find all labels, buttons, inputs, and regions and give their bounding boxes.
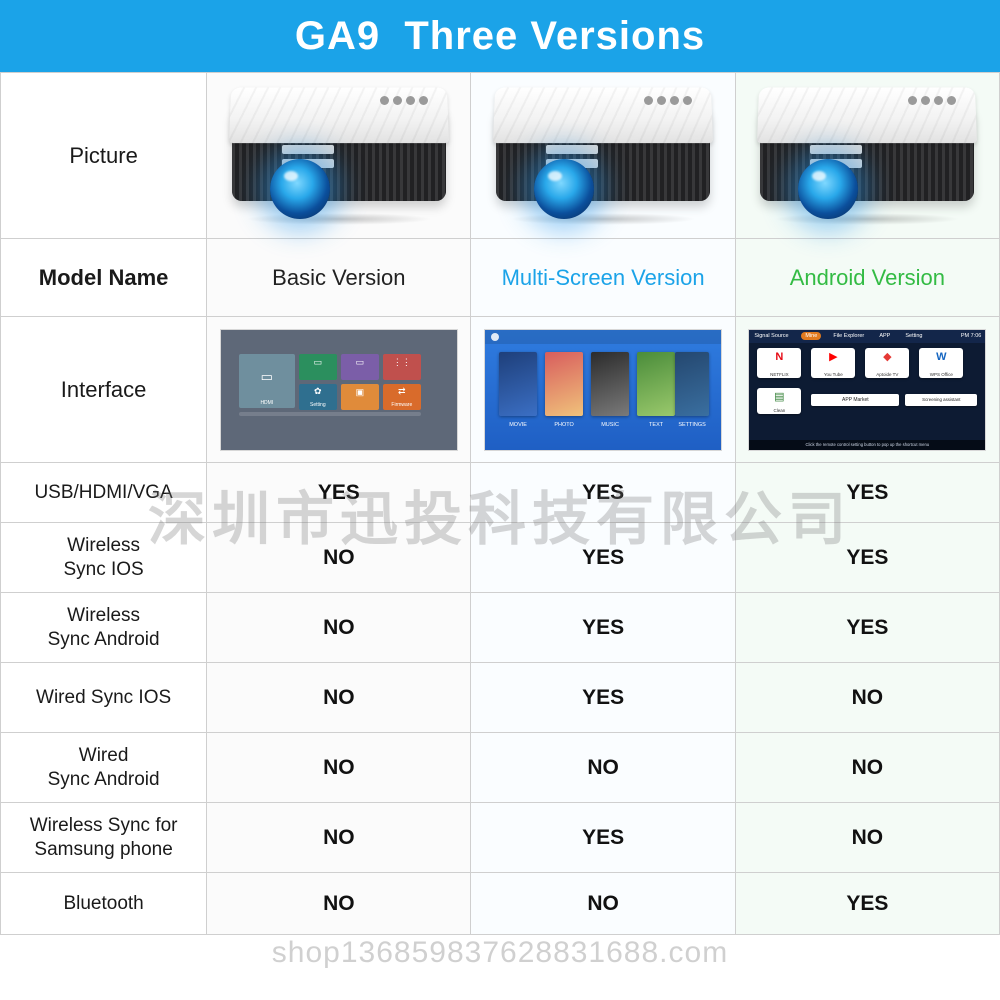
ui-tile-firmware: ⇄ Firmware <box>383 384 421 410</box>
app-label: You Tube <box>811 372 855 377</box>
table-row-wireless-sync-ios: Wireless Sync IOS NO YES YES <box>1 523 1000 593</box>
value-basic: NO <box>207 663 471 733</box>
value-android: NO <box>735 663 999 733</box>
projector-shadow <box>510 213 696 225</box>
row-label-wireless-sync-ios: Wireless Sync IOS <box>1 523 207 593</box>
wps-icon: W <box>919 352 963 363</box>
table-row-picture: Picture <box>1 73 1000 239</box>
user-icon <box>491 333 499 341</box>
ui-card-label-settings: SETTINGS <box>673 422 711 428</box>
ui-tile-glyph: ✿ <box>299 387 337 396</box>
ui-tile-label: Setting <box>310 402 326 408</box>
ui-tile-hdmi-main: ▭ HDMI <box>239 354 295 408</box>
ui-card-label-photo: PHOTO <box>545 422 583 428</box>
value-multi: NO <box>471 733 735 803</box>
android-app-screening-assistant: Screening assistant <box>905 394 977 406</box>
projector-shadow <box>246 213 432 225</box>
table-row-bluetooth: Bluetooth NO NO YES <box>1 873 1000 935</box>
row-label-wired-sync-ios: Wired Sync IOS <box>1 663 207 733</box>
android-app-youtube: ▶ You Tube <box>811 348 855 378</box>
projector-illustration <box>224 81 454 231</box>
android-app-netflix: N NETFLIX <box>757 348 801 378</box>
value-multi: YES <box>471 593 735 663</box>
projector-slot-upper <box>810 145 862 154</box>
screening-assistant-label: Screening assistant <box>922 397 960 402</box>
statusbar-mine: Mine <box>801 332 821 340</box>
table-row-wireless-sync-samsung: Wireless Sync for Samsung phone NO YES N… <box>1 803 1000 873</box>
android-app-market: APP Market <box>811 394 899 406</box>
value-android: YES <box>735 523 999 593</box>
row-label-picture: Picture <box>1 73 207 239</box>
value-basic: NO <box>207 733 471 803</box>
android-app-wps: W WPS Office <box>919 348 963 378</box>
table-row-wired-sync-android: Wired Sync Android NO NO NO <box>1 733 1000 803</box>
value-basic: YES <box>207 463 471 523</box>
value-basic: NO <box>207 593 471 663</box>
value-basic: NO <box>207 873 471 935</box>
ui-tile-apps: ⋮⋮ <box>383 354 421 380</box>
value-basic: NO <box>207 523 471 593</box>
projector-illustration <box>488 81 718 231</box>
value-multi: YES <box>471 523 735 593</box>
row-label-wired-sync-android: Wired Sync Android <box>1 733 207 803</box>
ui-tile-label: HDMI <box>260 400 273 406</box>
ui-card-label-music: MUSIC <box>591 422 629 428</box>
projector-lens <box>270 159 330 219</box>
aptoide-icon: ◆ <box>865 352 909 363</box>
table-row-wireless-sync-android: Wireless Sync Android NO YES YES <box>1 593 1000 663</box>
ui-card-music <box>591 352 629 416</box>
row-label-usb-hdmi-vga: USB/HDMI/VGA <box>1 463 207 523</box>
comparison-table: Picture <box>0 72 1000 935</box>
banner-title: GA9 Three Versions <box>295 14 705 59</box>
statusbar-setting: Setting <box>905 333 922 339</box>
value-android: NO <box>735 803 999 873</box>
ui-tile-hdmi2: ▭ <box>299 354 337 380</box>
row-label-bluetooth: Bluetooth <box>1 873 207 935</box>
clean-icon: ▤ <box>757 392 801 403</box>
projector-shadow <box>774 213 960 225</box>
ui-tile-label: Firmware <box>391 402 412 408</box>
value-android: NO <box>735 733 999 803</box>
row-label-wireless-sync-samsung: Wireless Sync for Samsung phone <box>1 803 207 873</box>
ui-tile-glyph: ▭ <box>341 358 379 367</box>
interface-android: Signal Source Mine File Explorer APP Set… <box>735 317 999 463</box>
projector-buttons <box>380 93 438 109</box>
value-multi: NO <box>471 873 735 935</box>
model-name-basic: Basic Version <box>207 239 471 317</box>
page-root: GA9 Three Versions Picture <box>0 0 1000 1000</box>
ui-tile-glyph: ▭ <box>299 358 337 367</box>
model-name-multi: Multi-Screen Version <box>471 239 735 317</box>
table-row-usb-hdmi-vga: USB/HDMI/VGA YES YES YES <box>1 463 1000 523</box>
projector-slot-upper <box>282 145 334 154</box>
ui-card-settings <box>675 352 709 416</box>
projector-buttons <box>908 93 966 109</box>
android-ui-screenshot: Signal Source Mine File Explorer APP Set… <box>748 329 986 451</box>
ui-basic-footer <box>239 412 421 416</box>
value-android: YES <box>735 463 999 523</box>
ui-card-text <box>637 352 675 416</box>
statusbar-file-explorer: File Explorer <box>833 333 864 339</box>
statusbar-signal-source: Signal Source <box>754 333 788 339</box>
ui-card-label-movie: MOVIE <box>499 422 537 428</box>
android-app-clean: ▤ Clean <box>757 388 801 414</box>
row-label-wireless-sync-android: Wireless Sync Android <box>1 593 207 663</box>
projector-lens <box>534 159 594 219</box>
app-label: Aptoide TV <box>865 372 909 377</box>
projector-lens <box>798 159 858 219</box>
interface-basic: ▭ HDMI ▭ ▭ ⋮⋮ ✿ <box>207 317 471 463</box>
statusbar-app: APP <box>879 333 890 339</box>
multi-screen-ui-screenshot: MOVIE PHOTO MUSIC TEXT SETTINGS <box>484 329 722 451</box>
picture-basic <box>207 73 471 239</box>
ui-card-movie <box>499 352 537 416</box>
basic-ui-screenshot: ▭ HDMI ▭ ▭ ⋮⋮ ✿ <box>220 329 458 451</box>
youtube-icon: ▶ <box>811 352 855 363</box>
projector-slot-upper <box>546 145 598 154</box>
ui-tile-glyph: ▭ <box>239 370 295 383</box>
table-row-model-name: Model Name Basic Version Multi-Screen Ve… <box>1 239 1000 317</box>
picture-multi <box>471 73 735 239</box>
android-hint-bar: Click the remote control setting button … <box>749 440 985 450</box>
projector-illustration <box>752 81 982 231</box>
ui-card-photo <box>545 352 583 416</box>
ui-tile-glyph: ⇄ <box>383 387 421 396</box>
value-multi: YES <box>471 803 735 873</box>
model-name-android: Android Version <box>735 239 999 317</box>
value-multi: YES <box>471 663 735 733</box>
row-label-interface: Interface <box>1 317 207 463</box>
ui-tile-media: ▣ <box>341 384 379 410</box>
ui-tile-usb: ▭ <box>341 354 379 380</box>
watermark-shop-url: shop136859837628831688.com <box>0 936 1000 970</box>
app-label: WPS Office <box>919 372 963 377</box>
app-label: NETFLIX <box>757 372 801 377</box>
statusbar-clock: PM 7:06 <box>961 333 981 339</box>
table-row-interface: Interface ▭ HDMI ▭ ▭ <box>1 317 1000 463</box>
ui-tile-setting: ✿ Setting <box>299 384 337 410</box>
picture-android <box>735 73 999 239</box>
projector-buttons <box>644 93 702 109</box>
netflix-icon: N <box>757 352 801 363</box>
interface-multi: MOVIE PHOTO MUSIC TEXT SETTINGS <box>471 317 735 463</box>
android-status-bar: Signal Source Mine File Explorer APP Set… <box>749 330 985 343</box>
android-app-aptoide: ◆ Aptoide TV <box>865 348 909 378</box>
row-label-model-name: Model Name <box>1 239 207 317</box>
app-label: Clean <box>757 408 801 413</box>
ui-tile-glyph: ▣ <box>341 388 379 397</box>
header-banner: GA9 Three Versions <box>0 0 1000 72</box>
value-android: YES <box>735 873 999 935</box>
ui-multi-topbar <box>485 330 721 344</box>
value-multi: YES <box>471 463 735 523</box>
table-row-wired-sync-ios: Wired Sync IOS NO YES NO <box>1 663 1000 733</box>
value-basic: NO <box>207 803 471 873</box>
ui-tile-glyph: ⋮⋮ <box>383 358 421 367</box>
ui-card-label-text: TEXT <box>637 422 675 428</box>
app-market-label: APP Market <box>842 397 869 403</box>
value-android: YES <box>735 593 999 663</box>
